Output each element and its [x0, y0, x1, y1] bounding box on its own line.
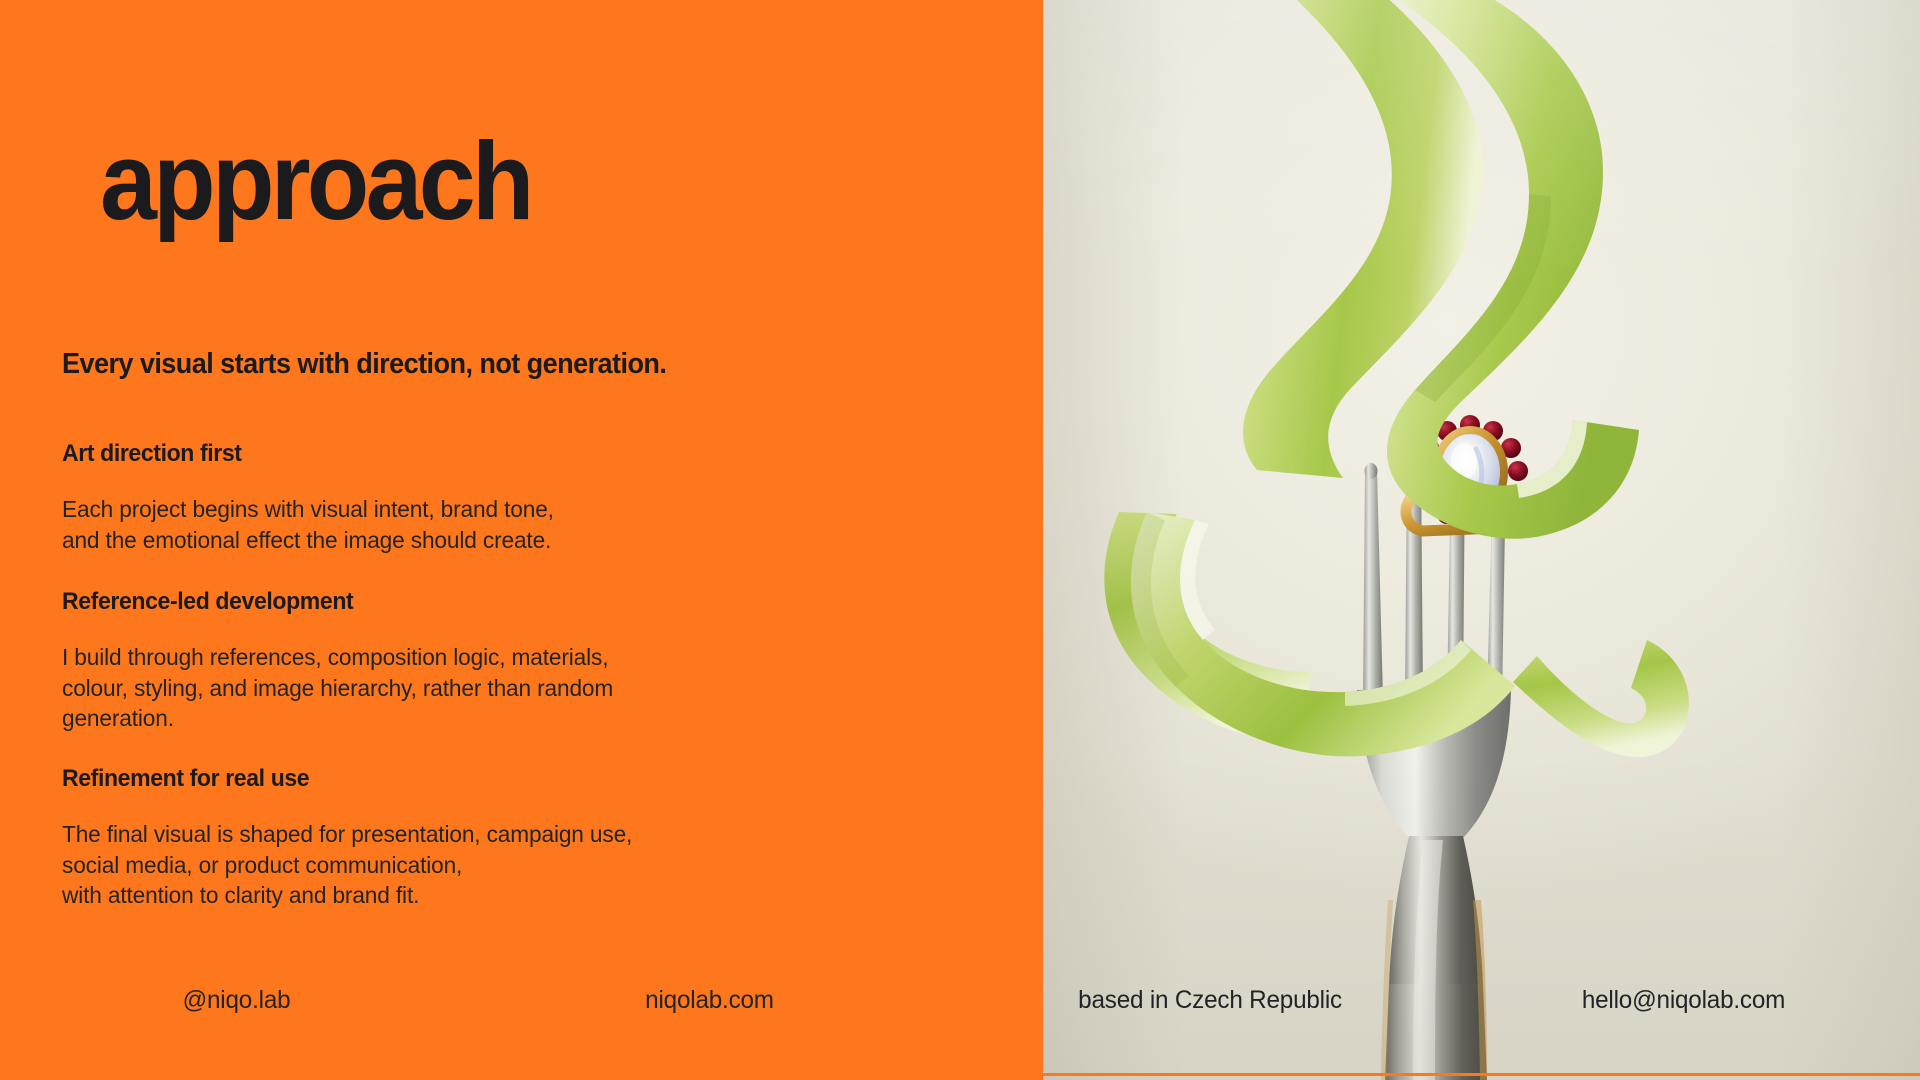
bottom-accent-rule: [1043, 1073, 1920, 1076]
section-refinement: Refinement for real use The final visual…: [62, 765, 982, 911]
footer-item-email[interactable]: hello@niqolab.com: [1454, 970, 1913, 1016]
section-reference-led: Reference-led development I build throug…: [62, 588, 982, 734]
section-body: I build through references, composition …: [62, 642, 950, 734]
product-photo: [1043, 0, 1920, 1080]
section-heading: Art direction first: [62, 440, 945, 468]
photo-vignette: [1043, 0, 1920, 1080]
section-heading: Reference-led development: [62, 588, 945, 616]
section-art-direction: Art direction first Each project begins …: [62, 440, 982, 555]
footer-item-website[interactable]: niqolab.com: [480, 970, 939, 1016]
section-body: The final visual is shaped for presentat…: [62, 819, 950, 911]
page-title: approach: [100, 130, 531, 235]
section-heading: Refinement for real use: [62, 765, 945, 793]
footer-item-location: based in Czech Republic: [954, 970, 1440, 1016]
subtitle: Every visual starts with direction, not …: [62, 348, 666, 381]
slide-canvas: approach Every visual starts with direct…: [0, 0, 1920, 1080]
section-body: Each project begins with visual intent, …: [62, 494, 950, 555]
footer-item-instagram[interactable]: @niqo.lab: [7, 970, 466, 1016]
